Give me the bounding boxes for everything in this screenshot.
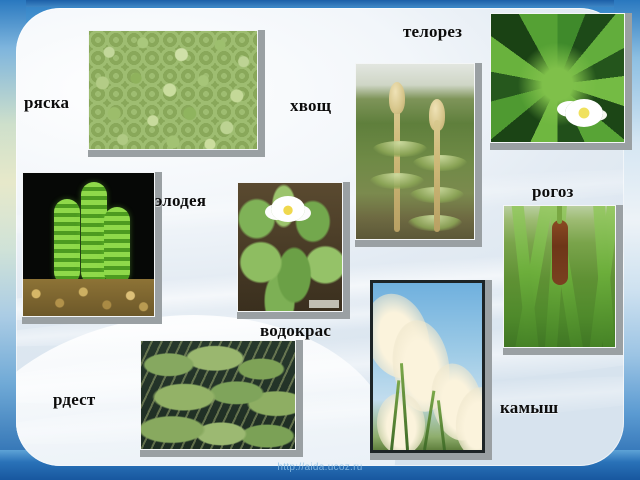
label-rdest: рдест	[53, 391, 95, 408]
reed-texture	[373, 283, 482, 450]
slide-canvas: ряска телорез хвощ элодея водокрас рогоз…	[0, 0, 640, 480]
cattail-photo-image	[503, 205, 616, 348]
horsetail-whorl	[373, 141, 427, 157]
water-soldier-texture	[491, 14, 624, 142]
frogbit-watermark	[309, 300, 339, 308]
cattail-photo[interactable]	[503, 205, 623, 355]
pondweed-photo[interactable]	[140, 340, 303, 457]
elodea-stem	[54, 199, 80, 285]
duckweed-texture	[89, 31, 257, 149]
reed-photo[interactable]	[370, 280, 492, 460]
horsetail-photo[interactable]	[355, 63, 482, 247]
label-telorez: телорез	[403, 23, 462, 40]
label-rogoz: рогоз	[532, 183, 574, 200]
cattail-texture	[504, 206, 615, 347]
frogbit-photo-image	[237, 182, 343, 312]
water-soldier-photo-image	[490, 13, 625, 143]
horsetail-whorl	[413, 155, 467, 171]
source-credit: http://aida.ucoz.ru	[0, 462, 640, 473]
elodea-texture	[23, 173, 154, 316]
water-soldier-photo[interactable]	[490, 13, 632, 150]
horsetail-whorl	[410, 187, 464, 203]
elodea-stem	[81, 182, 107, 285]
frogbit-flower	[271, 196, 305, 222]
cattail-spike	[552, 220, 568, 285]
pondweed-photo-image	[140, 340, 296, 450]
elodea-photo-image	[22, 172, 155, 317]
elodea-stem	[104, 207, 130, 284]
frogbit-photo[interactable]	[237, 182, 350, 319]
label-kamysh: камыш	[500, 399, 558, 416]
top-edge-bar	[0, 0, 640, 7]
label-khvoshch: хвощ	[290, 97, 331, 114]
horsetail-whorl	[370, 173, 424, 189]
pondweed-texture	[141, 341, 295, 449]
elodea-photo[interactable]	[22, 172, 162, 324]
duckweed-photo-image	[88, 30, 258, 150]
water-soldier-flower	[565, 99, 603, 127]
horsetail-whorl	[408, 215, 462, 231]
horsetail-cone	[389, 82, 405, 114]
horsetail-texture	[356, 64, 474, 239]
label-ryaska: ряска	[24, 94, 69, 111]
label-vodokras: водокрас	[260, 322, 331, 339]
horsetail-photo-image	[355, 63, 475, 240]
duckweed-photo[interactable]	[88, 30, 265, 157]
reed-photo-image	[370, 280, 485, 453]
horsetail-cone	[429, 99, 445, 131]
label-elodeya: элодея	[155, 192, 206, 209]
elodea-gravel	[23, 279, 154, 316]
